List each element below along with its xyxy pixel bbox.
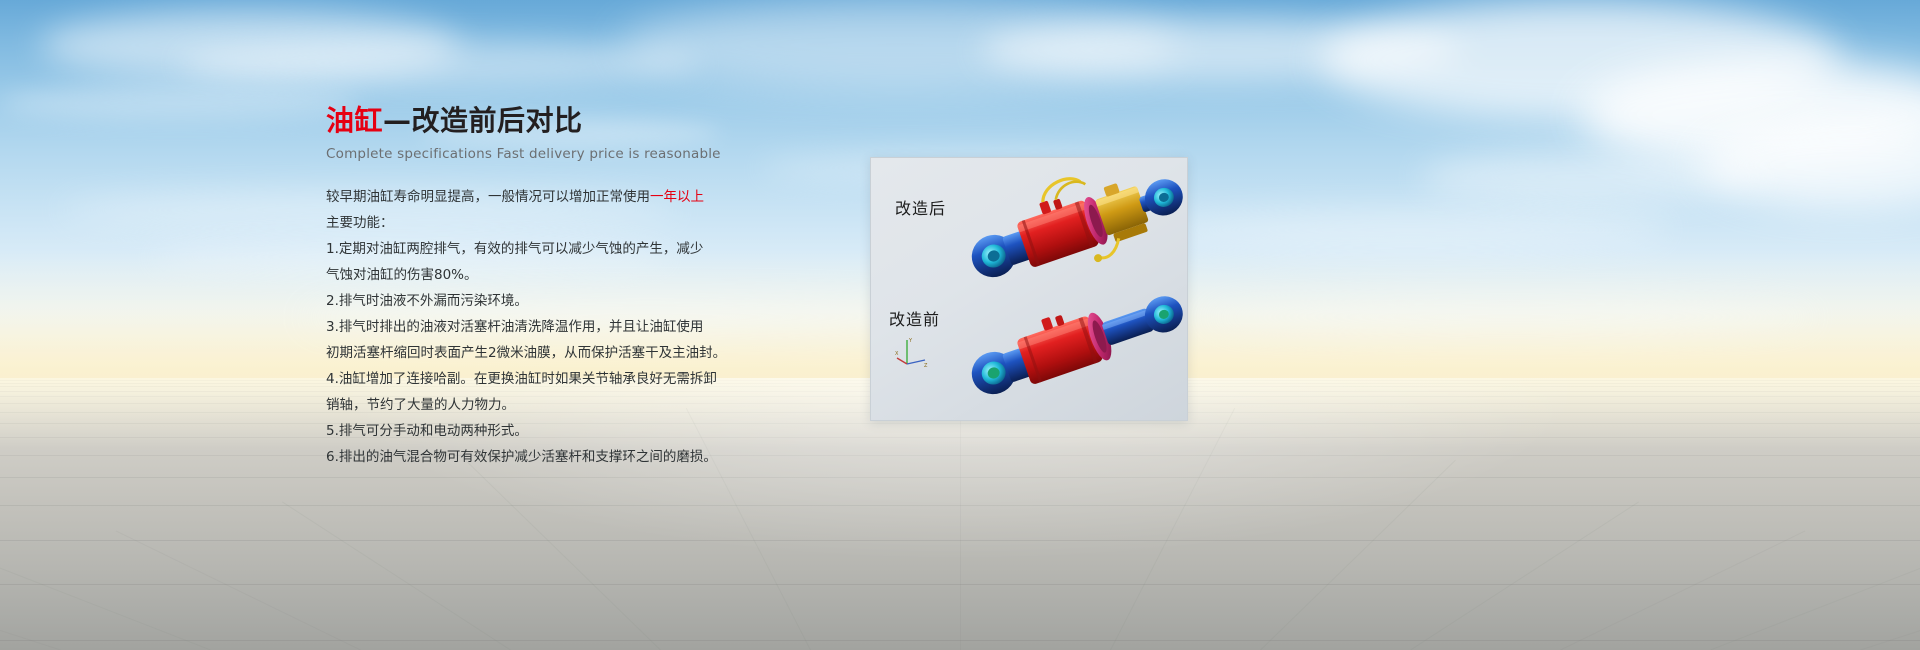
axis-label-y: Y xyxy=(908,338,913,344)
feature-description: 较早期油缸寿命明显提高，一般情况可以增加正常使用一年以上 主要功能： 1.定期对… xyxy=(326,184,856,470)
feature-item-line: 5.排气可分手动和电动两种形式。 xyxy=(326,418,856,444)
cylinder-after-illustration xyxy=(963,168,1187,288)
feature-item-line: 6.排出的油气混合物可有效保护减少活塞杆和支撑环之间的磨损。 xyxy=(326,444,856,470)
feature-list: 1.定期对油缸两腔排气，有效的排气可以减少气蚀的产生，减少气蚀对油缸的伤害80%… xyxy=(326,236,856,470)
page-subtitle: Complete specifications Fast delivery pr… xyxy=(326,146,856,162)
copy-block: 油缸—改造前后对比 Complete specifications Fast d… xyxy=(326,104,856,470)
feature-item-line: 3.排气时排出的油液对活塞杆油清洗降温作用，并且让油缸使用 xyxy=(326,314,856,340)
cylinder-before-illustration xyxy=(963,286,1187,404)
axis-gizmo-icon: Y X Z xyxy=(895,336,929,368)
label-before-modification: 改造前 xyxy=(889,306,940,330)
page-title-rest: —改造前后对比 xyxy=(383,104,583,137)
axis-label-x: X xyxy=(895,351,899,357)
feature-item-line: 2.排气时油液不外漏而污染环境。 xyxy=(326,288,856,314)
page-title-highlight: 油缸 xyxy=(326,104,383,137)
intro-highlight: 一年以上 xyxy=(650,189,704,205)
feature-item-line: 初期活塞杆缩回时表面产生2微米油膜，从而保护活塞干及主油封。 xyxy=(326,340,856,366)
page-title: 油缸—改造前后对比 xyxy=(326,104,856,138)
intro-lead-line: 较早期油缸寿命明显提高，一般情况可以增加正常使用一年以上 xyxy=(326,184,856,210)
label-after-modification: 改造后 xyxy=(895,195,946,219)
product-comparison-panel: 改造后 改造前 xyxy=(870,157,1188,421)
axis-label-z: Z xyxy=(924,363,928,368)
feature-item-line: 销轴，节约了大量的人力物力。 xyxy=(326,392,856,418)
banner-stage: 油缸—改造前后对比 Complete specifications Fast d… xyxy=(0,0,1920,650)
intro-lead-text: 较早期油缸寿命明显提高，一般情况可以增加正常使用 xyxy=(326,189,650,205)
features-section-title: 主要功能： xyxy=(326,210,856,236)
feature-item-line: 气蚀对油缸的伤害80%。 xyxy=(326,262,856,288)
feature-item-line: 1.定期对油缸两腔排气，有效的排气可以减少气蚀的产生，减少 xyxy=(326,236,856,262)
feature-item-line: 4.油缸增加了连接哈副。在更换油缸时如果关节轴承良好无需拆卸 xyxy=(326,366,856,392)
